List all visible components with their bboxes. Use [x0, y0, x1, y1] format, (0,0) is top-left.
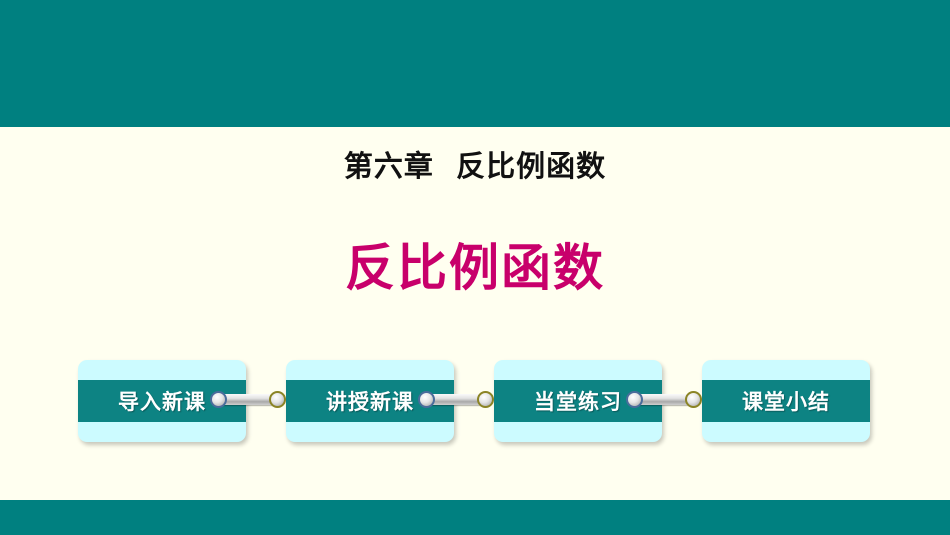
nav-button-row: 导入新课 讲授新课 当堂练习 — [0, 358, 950, 450]
lesson-title: 反比例函数 — [0, 228, 950, 300]
connector-cap-left-icon — [626, 391, 643, 408]
chapter-title: 第六章 反比例函数 — [0, 143, 950, 185]
connector-cap-left-icon — [418, 391, 435, 408]
nav-button-label: 当堂练习 — [534, 386, 622, 416]
connector-cap-left-icon — [210, 391, 227, 408]
connector-cap-right-icon — [685, 391, 702, 408]
header-band — [0, 0, 950, 127]
connector-3 — [626, 391, 702, 408]
slide-canvas: 第六章 反比例函数 反比例函数 导入新课 讲授新课 当堂练习 — [0, 0, 950, 535]
nav-button-class-summary[interactable]: 课堂小结 — [702, 360, 870, 442]
connector-2 — [418, 391, 494, 408]
nav-button-band: 课堂小结 — [702, 380, 870, 422]
connector-cap-right-icon — [477, 391, 494, 408]
nav-button-label: 导入新课 — [118, 386, 206, 416]
nav-button-label: 讲授新课 — [326, 386, 414, 416]
footer-band — [0, 500, 950, 535]
connector-cap-right-icon — [269, 391, 286, 408]
connector-1 — [210, 391, 286, 408]
nav-button-label: 课堂小结 — [742, 386, 830, 416]
